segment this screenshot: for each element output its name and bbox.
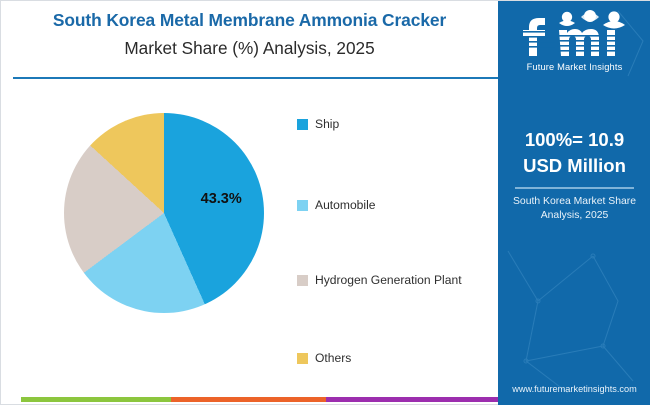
page-title: South Korea Metal Membrane Ammonia Crack… [53,10,446,31]
pie-slice-label-ship: 43.3% [201,191,242,207]
stat-caption: South Korea Market Share Analysis, 2025 [508,195,641,223]
legend-item-label: Ship [315,117,339,131]
legend-item-automobile[interactable]: Automobile [297,198,376,212]
pie-chart [64,113,264,313]
legend-swatch-icon [297,275,308,286]
legend-item-label: Others [315,351,351,365]
fmi-logo: Future Market Insights [498,9,650,81]
brand-side-panel: Future Market Insights 100%= 10.9 USD Mi… [498,1,650,405]
brand-tagline: Future Market Insights [527,62,623,72]
legend-swatch-icon [297,119,308,130]
bottom-bar-segment-2 [171,397,326,402]
stat-primary-value: 100%= 10.9 [498,129,650,151]
bottom-bar-segment-3 [326,397,498,402]
legend-item-others[interactable]: Others [297,351,351,365]
website-url: www.futuremarketinsights.com [498,384,650,394]
fmi-logomark-icon [515,9,635,61]
title-divider [13,77,499,79]
chart-legend: ShipAutomobileHydrogen Generation PlantO… [297,93,497,383]
legend-item-ship[interactable]: Ship [297,117,339,131]
chart-infographic: South Korea Metal Membrane Ammonia Crack… [0,0,650,405]
stat-divider [515,187,634,189]
legend-item-label: Automobile [315,198,376,212]
bottom-bar-segment-1 [21,397,171,402]
bottom-color-bar [21,397,498,402]
legend-item-hydrogen-generation-plant[interactable]: Hydrogen Generation Plant [297,273,462,287]
pie-chart-area: 43.3% [1,81,291,381]
page-subtitle: Market Share (%) Analysis, 2025 [124,38,374,59]
chart-title-block: South Korea Metal Membrane Ammonia Crack… [1,1,498,79]
stat-primary-unit: USD Million [498,155,650,177]
legend-item-label: Hydrogen Generation Plant [315,273,462,287]
legend-swatch-icon [297,353,308,364]
legend-swatch-icon [297,200,308,211]
